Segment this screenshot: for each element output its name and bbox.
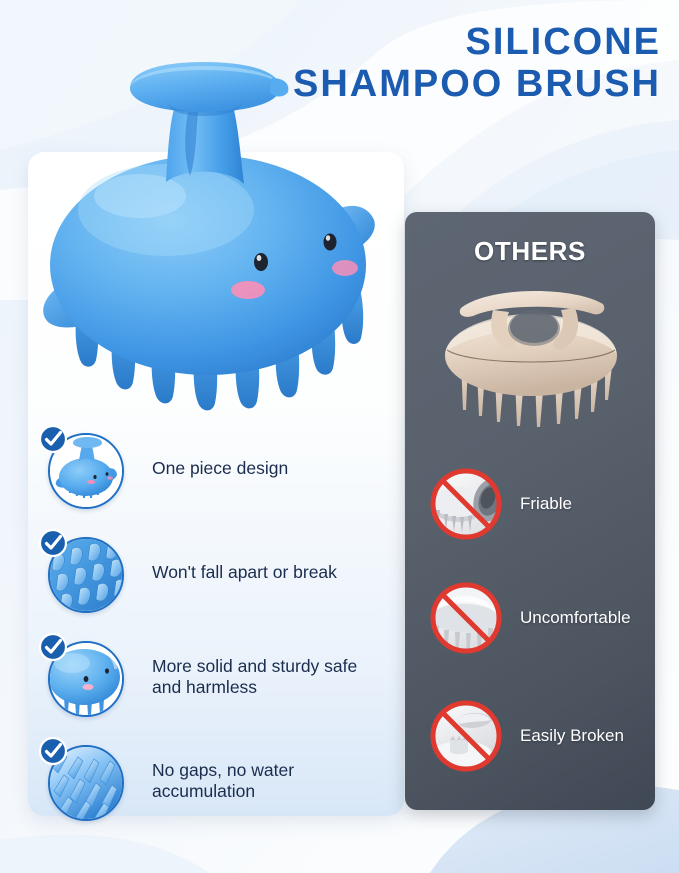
feature-thumbnail (42, 531, 126, 615)
check-badge-icon (38, 632, 68, 662)
feature-thumbnail (42, 427, 126, 511)
prohibition-icon (428, 580, 504, 656)
feature-label: One piece design (152, 458, 288, 479)
infographic-canvas: SILICONE SHAMPOO BRUSH OTHERS (0, 0, 679, 873)
drawback-row[interactable]: Uncomfortable (428, 580, 668, 656)
drawback-row[interactable]: Friable (428, 466, 668, 542)
check-badge-icon (38, 424, 68, 454)
competitor-brush-image (427, 270, 635, 430)
feature-row[interactable]: No gaps, no water accumulation (42, 739, 392, 823)
drawback-label: Uncomfortable (520, 608, 631, 628)
feature-label: More solid and sturdy safe and harmless (152, 656, 382, 699)
feature-label: Won't fall apart or break (152, 562, 337, 583)
drawback-row[interactable]: Easily Broken (428, 698, 668, 774)
feature-label: No gaps, no water accumulation (152, 760, 382, 803)
drawback-label: Friable (520, 494, 572, 514)
prohibition-icon (428, 466, 504, 542)
others-title: OTHERS (405, 236, 655, 267)
drawback-label: Easily Broken (520, 726, 624, 746)
feature-row[interactable]: One piece design (42, 427, 392, 511)
check-badge-icon (38, 736, 68, 766)
check-badge-icon (38, 528, 68, 558)
feature-row[interactable]: More solid and sturdy safe and harmless (42, 635, 392, 719)
feature-thumbnail (42, 739, 126, 823)
feature-row[interactable]: Won't fall apart or break (42, 531, 392, 615)
hero-product-image (18, 50, 398, 430)
prohibition-icon (428, 698, 504, 774)
feature-thumbnail (42, 635, 126, 719)
